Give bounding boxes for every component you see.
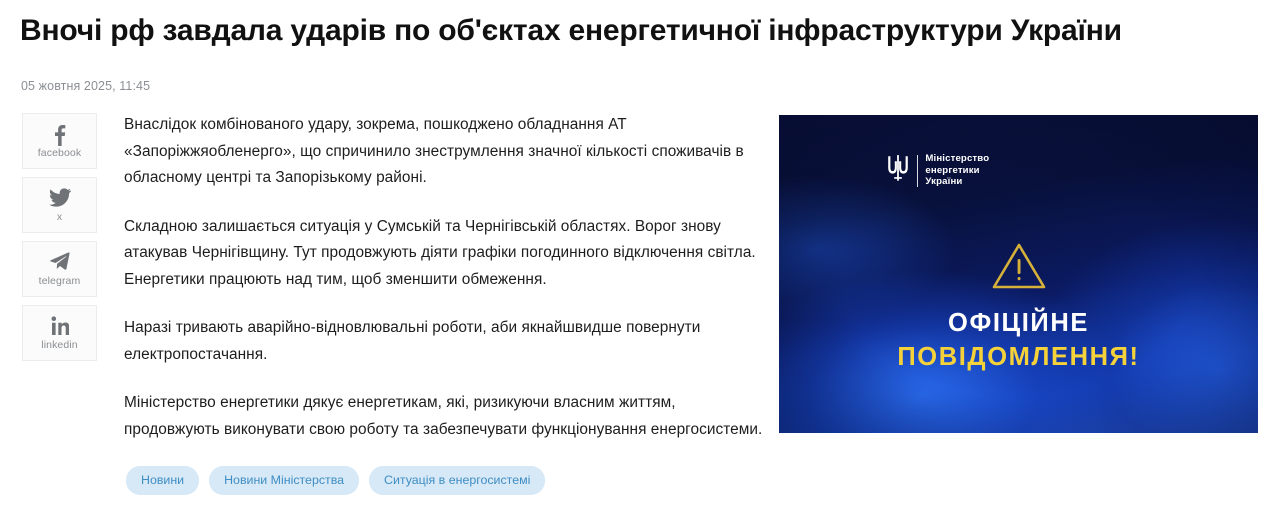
- tag-news[interactable]: Новини: [126, 466, 199, 495]
- share-sidebar: facebook x telegram: [22, 113, 97, 369]
- article-paragraph: Внаслідок комбінованого удару, зокрема, …: [124, 112, 769, 192]
- share-label: facebook: [38, 147, 81, 159]
- share-label: telegram: [39, 275, 81, 287]
- telegram-icon: [49, 252, 70, 274]
- banner-headline-official: ОФІЦІЙНЕ: [779, 308, 1258, 338]
- article-banner-image: Міністерство енергетики України ОФІЦІЙНЕ…: [779, 115, 1258, 433]
- article-paragraph: Складною залишається ситуація у Сумській…: [124, 214, 769, 294]
- article-page: Вночі рф завдала ударів по об'єктах енер…: [0, 0, 1280, 517]
- warning-triangle-icon: [991, 241, 1047, 296]
- twitter-bird-icon: [49, 188, 71, 210]
- article-body: Внаслідок комбінованого удару, зокрема, …: [124, 112, 769, 443]
- banner-message: ОФІЦІЙНЕ ПОВІДОМЛЕННЯ!: [779, 241, 1258, 372]
- linkedin-icon: [51, 316, 69, 338]
- share-button-telegram[interactable]: telegram: [22, 241, 97, 297]
- share-button-facebook[interactable]: facebook: [22, 113, 97, 169]
- logo-divider: [917, 155, 918, 187]
- share-label: x: [57, 211, 62, 223]
- share-label: linkedin: [41, 339, 77, 351]
- article-paragraph: Наразі тривають аварійно-відновлювальні …: [124, 315, 769, 368]
- banner-headline-message: ПОВІДОМЛЕННЯ!: [779, 342, 1258, 372]
- tag-energy-system-situation[interactable]: Ситуація в енергосистемі: [369, 466, 545, 495]
- tag-ministry-news[interactable]: Новини Міністерства: [209, 466, 359, 495]
- share-button-linkedin[interactable]: linkedin: [22, 305, 97, 361]
- ministry-name-line2: енергетики: [925, 165, 979, 176]
- article-paragraph: Міністерство енергетики дякує енергетика…: [124, 390, 769, 443]
- share-button-x[interactable]: x: [22, 177, 97, 233]
- ukraine-trident-icon: [886, 153, 910, 188]
- ministry-logo: Міністерство енергетики України: [886, 153, 989, 188]
- publish-date: 05 жовтня 2025, 11:45: [21, 78, 150, 94]
- ministry-name-line3: України: [925, 176, 962, 187]
- ministry-name-line1: Міністерство: [925, 153, 989, 164]
- ministry-name: Міністерство енергетики України: [925, 153, 989, 188]
- facebook-icon: [53, 124, 66, 146]
- page-title: Вночі рф завдала ударів по об'єктах енер…: [20, 12, 1260, 50]
- tag-list: Новини Новини Міністерства Ситуація в ен…: [126, 466, 545, 495]
